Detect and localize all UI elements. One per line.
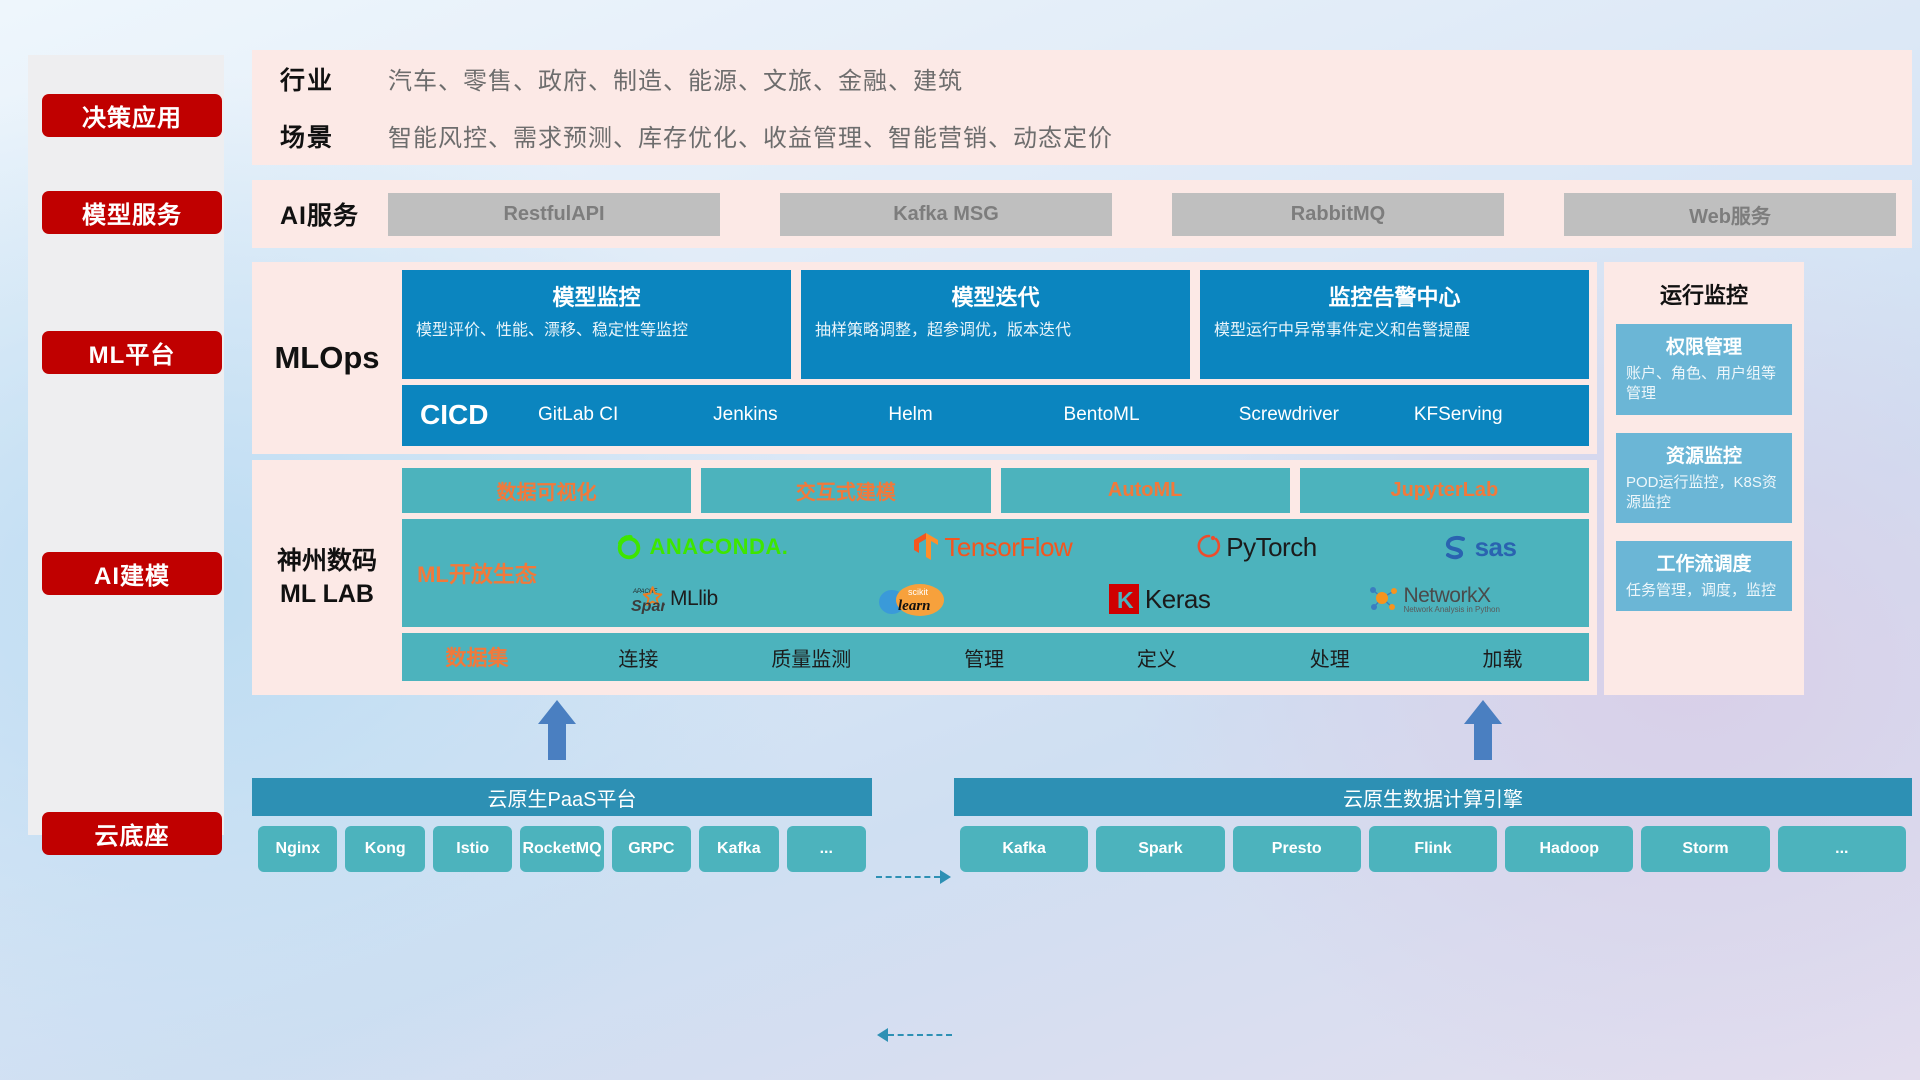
sas-logo[interactable]: sas — [1442, 532, 1517, 563]
ai-service-label: AI服务 — [280, 196, 388, 232]
networkx-logo-text: NetworkX — [1403, 585, 1500, 606]
svg-text:K: K — [1117, 587, 1134, 613]
ml-ecosystem-logos: ANACONDA. TensorFlow — [552, 522, 1589, 624]
pytorch-logo[interactable]: PyTorch — [1197, 532, 1316, 563]
networkx-logo[interactable]: NetworkX Network Analysis in Python — [1368, 585, 1500, 614]
engine-chip-storm[interactable]: Storm — [1641, 826, 1769, 872]
layer-pill-ml-platform[interactable]: ML平台 — [42, 331, 222, 374]
mlops-card-alert-center[interactable]: 监控告警中心 模型运行中异常事件定义和告警提醒 — [1200, 270, 1589, 379]
scikit-learn-icon: scikit learn — [876, 582, 950, 616]
runtime-monitoring-panel: 运行监控 权限管理 账户、角色、用户组等管理 资源监控 POD运行监控，K8S资… — [1604, 262, 1804, 695]
card-title: 监控告警中心 — [1214, 280, 1575, 312]
card-title: 权限管理 — [1626, 332, 1782, 359]
card-desc: 模型评价、性能、漂移、稳定性等监控 — [416, 320, 777, 342]
card-desc: POD运行监控，K8S资源监控 — [1626, 473, 1782, 514]
card-title: 资源监控 — [1626, 441, 1782, 468]
service-chip-restfulapi[interactable]: RestfulAPI — [388, 193, 720, 236]
scikit-learn-logo[interactable]: scikit learn — [876, 582, 950, 616]
mllib-text: MLlib — [670, 587, 718, 611]
cicd-item-jenkins[interactable]: Jenkins — [713, 404, 888, 426]
networkx-tagline: Network Analysis in Python — [1403, 606, 1500, 614]
cloud-paas-title: 云原生PaaS平台 — [252, 778, 872, 816]
cloud-chip-rocketmq[interactable]: RocketMQ — [520, 826, 603, 872]
service-chip-web-service[interactable]: Web服务 — [1564, 193, 1896, 236]
networkx-icon — [1368, 585, 1398, 613]
dataset-item-list: 连接 质量监测 管理 定义 处理 加载 — [552, 643, 1589, 672]
monitoring-card-permission[interactable]: 权限管理 账户、角色、用户组等管理 — [1616, 324, 1792, 415]
card-desc: 模型运行中异常事件定义和告警提醒 — [1214, 320, 1575, 342]
card-desc: 抽样策略调整，超参调优，版本迭代 — [815, 320, 1176, 342]
cloud-chip-more-left[interactable]: ... — [787, 826, 866, 872]
cicd-item-list: GitLab CI Jenkins Helm BentoML Screwdriv… — [538, 404, 1589, 426]
runtime-monitoring-title: 运行监控 — [1616, 278, 1792, 310]
cicd-bar: CICD GitLab CI Jenkins Helm BentoML Scre… — [402, 385, 1589, 446]
layer-pill-cloud-base[interactable]: 云底座 — [42, 812, 222, 855]
layer-rail: 决策应用 模型服务 ML平台 AI建模 — [28, 55, 224, 835]
architecture-main: 行业 汽车、零售、政府、制造、能源、文旅、金融、建筑 场景 智能风控、需求预测、… — [252, 0, 1912, 1080]
ecosystem-logo-row-1: ANACONDA. TensorFlow — [552, 522, 1579, 572]
keras-logo-text: Keras — [1145, 584, 1210, 615]
engine-chip-spark[interactable]: Spark — [1096, 826, 1224, 872]
scenario-value: 智能风控、需求预测、库存优化、收益管理、智能营销、动态定价 — [388, 118, 1113, 153]
cloud-chip-nginx[interactable]: Nginx — [258, 826, 337, 872]
engine-chip-presto[interactable]: Presto — [1233, 826, 1361, 872]
layer-pill-decision-app[interactable]: 决策应用 — [42, 94, 222, 137]
pytorch-icon — [1197, 533, 1221, 561]
card-title: 工作流调度 — [1626, 549, 1782, 576]
engine-chip-more-right[interactable]: ... — [1778, 826, 1906, 872]
mlops-card-list: 模型监控 模型评价、性能、漂移、稳定性等监控 模型迭代 抽样策略调整，超参调优，… — [402, 270, 1589, 379]
keras-icon: K — [1108, 583, 1140, 615]
scenario-row: 场景 智能风控、需求预测、库存优化、收益管理、智能营销、动态定价 — [252, 107, 1912, 164]
dataset-row: 数据集 连接 质量监测 管理 定义 处理 加载 — [402, 633, 1589, 681]
ai-modeling-band: 神州数码 ML LAB 数据可视化 交互式建模 AutoML JupyterLa… — [252, 460, 1597, 695]
tensorflow-logo[interactable]: TensorFlow — [913, 532, 1072, 563]
cloud-chip-kong[interactable]: Kong — [345, 826, 424, 872]
anaconda-icon — [614, 532, 644, 562]
tool-chip-data-visualization[interactable]: 数据可视化 — [402, 468, 691, 513]
sas-logo-text: sas — [1475, 532, 1517, 563]
ml-ecosystem-label: ML开放生态 — [402, 557, 552, 589]
dataset-item-load[interactable]: 加载 — [1416, 643, 1589, 672]
monitoring-card-resource[interactable]: 资源监控 POD运行监控，K8S资源监控 — [1616, 433, 1792, 524]
ml-lab-line2: ML LAB — [280, 578, 374, 611]
tool-chip-automl[interactable]: AutoML — [1001, 468, 1290, 513]
mlops-band: MLOps 模型监控 模型评价、性能、漂移、稳定性等监控 模型迭代 抽样策略调整… — [252, 262, 1597, 454]
monitoring-card-workflow[interactable]: 工作流调度 任务管理，调度，监控 — [1616, 541, 1792, 611]
scenario-label: 场景 — [280, 118, 388, 154]
engine-chip-flink[interactable]: Flink — [1369, 826, 1497, 872]
cicd-item-gitlab-ci[interactable]: GitLab CI — [538, 404, 713, 426]
cloud-native-data-engine-block: 云原生数据计算引擎 Kafka Spark Presto Flink Hadoo… — [954, 778, 1912, 884]
cicd-item-kfserving[interactable]: KFServing — [1414, 404, 1589, 426]
anaconda-logo-text: ANACONDA. — [649, 534, 788, 560]
ai-modeling-content: 数据可视化 交互式建模 AutoML JupyterLab ML开放生态 ANA… — [402, 460, 1597, 695]
dataset-label: 数据集 — [402, 642, 552, 672]
tensorflow-icon — [913, 532, 939, 562]
mlops-card-model-iteration[interactable]: 模型迭代 抽样策略调整，超参调优，版本迭代 — [801, 270, 1190, 379]
mlops-card-model-monitoring[interactable]: 模型监控 模型评价、性能、漂移、稳定性等监控 — [402, 270, 791, 379]
card-title: 模型监控 — [416, 280, 777, 312]
svg-text:learn: learn — [898, 598, 931, 614]
ai-service-items: RestfulAPI Kafka MSG RabbitMQ Web服务 — [388, 193, 1912, 236]
layer-pill-ai-modeling[interactable]: AI建模 — [42, 552, 222, 595]
industry-label: 行业 — [280, 61, 388, 97]
tensorflow-logo-text: TensorFlow — [944, 532, 1072, 563]
tool-chip-interactive-modeling[interactable]: 交互式建模 — [701, 468, 990, 513]
dataset-item-manage[interactable]: 管理 — [898, 643, 1071, 672]
cloud-chip-istio[interactable]: Istio — [433, 826, 512, 872]
industry-value: 汽车、零售、政府、制造、能源、文旅、金融、建筑 — [388, 61, 963, 96]
card-title: 模型迭代 — [815, 280, 1176, 312]
service-chip-rabbitmq[interactable]: RabbitMQ — [1172, 193, 1504, 236]
industry-row: 行业 汽车、零售、政府、制造、能源、文旅、金融、建筑 — [252, 50, 1912, 107]
svg-text:Spark: Spark — [631, 598, 665, 614]
pytorch-logo-text: PyTorch — [1226, 532, 1316, 563]
svg-text:scikit: scikit — [908, 587, 928, 597]
mlops-content: 模型监控 模型评价、性能、漂移、稳定性等监控 模型迭代 抽样策略调整，超参调优，… — [402, 262, 1597, 454]
service-chip-kafka-msg[interactable]: Kafka MSG — [780, 193, 1112, 236]
decision-application-band: 行业 汽车、零售、政府、制造、能源、文旅、金融、建筑 场景 智能风控、需求预测、… — [252, 50, 1912, 165]
anaconda-logo[interactable]: ANACONDA. — [614, 532, 788, 562]
cicd-item-bentoml[interactable]: BentoML — [1064, 404, 1239, 426]
mlops-label: MLOps — [252, 262, 402, 454]
dataset-item-process[interactable]: 处理 — [1243, 643, 1416, 672]
cloud-native-paas-block: 云原生PaaS平台 Nginx Kong Istio RocketMQ GRPC… — [252, 778, 872, 884]
ai-service-band: AI服务 RestfulAPI Kafka MSG RabbitMQ Web服务 — [252, 180, 1912, 248]
tool-chip-jupyterlab[interactable]: JupyterLab — [1300, 468, 1589, 513]
cicd-item-helm[interactable]: Helm — [888, 404, 1063, 426]
layer-pill-model-service[interactable]: 模型服务 — [42, 191, 222, 234]
card-desc: 账户、角色、用户组等管理 — [1626, 364, 1782, 405]
spark-mllib-logo[interactable]: APACHE Spark MLlib — [631, 584, 718, 614]
ecosystem-logo-row-2: APACHE Spark MLlib scikit lear — [552, 574, 1579, 624]
engine-chip-kafka[interactable]: Kafka — [960, 826, 1088, 872]
ml-ecosystem-row: ML开放生态 ANACONDA. — [402, 519, 1589, 627]
dataset-item-connect[interactable]: 连接 — [552, 643, 725, 672]
dataset-item-quality-monitor[interactable]: 质量监测 — [725, 643, 898, 672]
cicd-label: CICD — [420, 399, 538, 431]
cloud-chip-grpc[interactable]: GRPC — [612, 826, 691, 872]
card-desc: 任务管理，调度，监控 — [1626, 581, 1782, 601]
cloud-data-engine-title: 云原生数据计算引擎 — [954, 778, 1912, 816]
ml-lab-line1: 神州数码 — [277, 545, 377, 578]
dataset-item-define[interactable]: 定义 — [1070, 643, 1243, 672]
keras-logo[interactable]: K Keras — [1108, 583, 1210, 615]
cloud-chip-kafka[interactable]: Kafka — [699, 826, 778, 872]
sas-icon — [1442, 534, 1470, 560]
cicd-item-screwdriver[interactable]: Screwdriver — [1239, 404, 1414, 426]
cloud-data-engine-chip-list: Kafka Spark Presto Flink Hadoop Storm ..… — [954, 816, 1912, 884]
cloud-paas-chip-list: Nginx Kong Istio RocketMQ GRPC Kafka ... — [252, 816, 872, 884]
spark-icon: APACHE Spark — [631, 584, 665, 614]
engine-chip-hadoop[interactable]: Hadoop — [1505, 826, 1633, 872]
modeling-tool-list: 数据可视化 交互式建模 AutoML JupyterLab — [402, 468, 1589, 513]
ml-lab-label: 神州数码 ML LAB — [252, 460, 402, 695]
